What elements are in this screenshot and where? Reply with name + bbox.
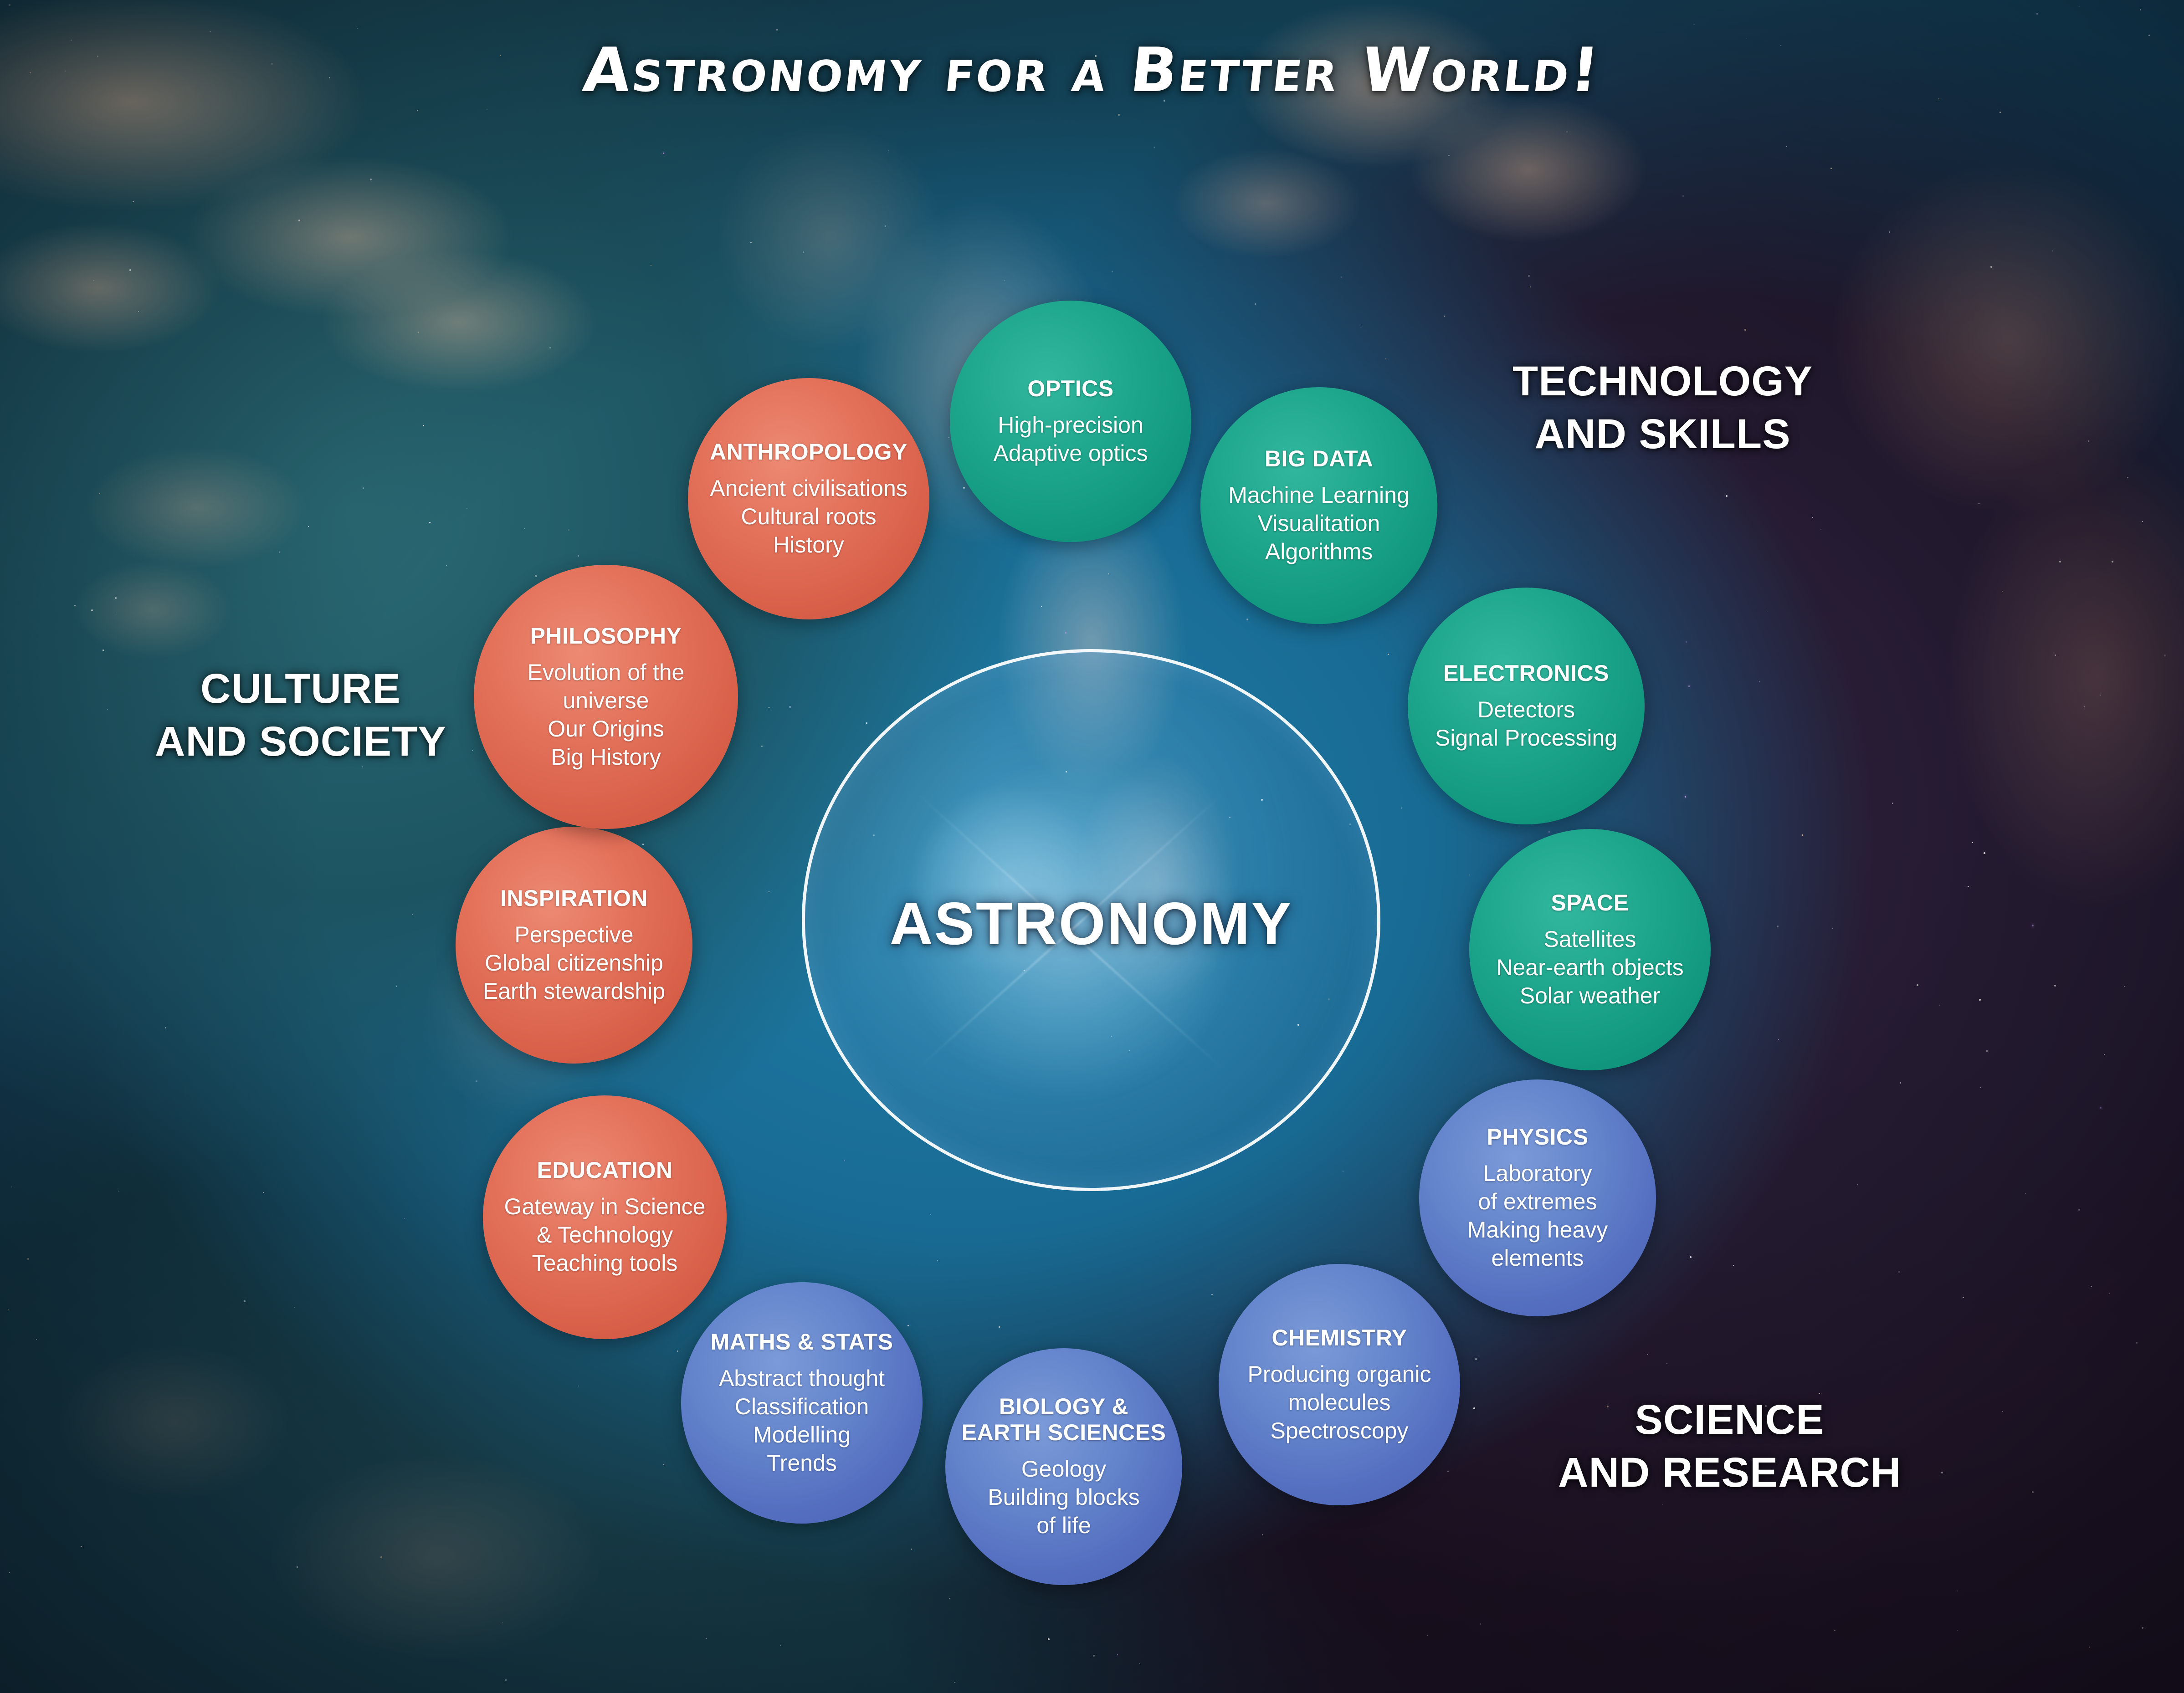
bubble-detail-line-1: Perspective bbox=[483, 921, 665, 949]
bubble-detail-line-1: Detectors bbox=[1435, 696, 1617, 724]
section-label-culture-and-society: CULTURE AND SOCIETY bbox=[155, 663, 446, 768]
bubble-detail-line-2: Building blocks bbox=[988, 1483, 1140, 1511]
astronomy-center-circle: ASTRONOMY bbox=[802, 649, 1380, 1191]
section-label-technology-and-skills: TECHNOLOGY AND SKILLS bbox=[1512, 355, 1813, 461]
bubble-electronics-title: ELECTRONICS bbox=[1443, 660, 1609, 686]
bubble-optics-lines: High-precisionAdaptive optics bbox=[993, 411, 1148, 467]
bubble-philosophy-title: PHILOSOPHY bbox=[530, 623, 682, 649]
bubble-anthropology[interactable]: ANTHROPOLOGY Ancient civilisationsCultur… bbox=[688, 378, 929, 619]
bubble-biology-earth-sciences[interactable]: BIOLOGY & EARTH SCIENCES GeologyBuilding… bbox=[945, 1348, 1182, 1585]
bubble-education[interactable]: EDUCATION Gateway in Science& Technology… bbox=[483, 1095, 727, 1339]
bubble-education-title: EDUCATION bbox=[537, 1157, 672, 1183]
bubble-electronics-lines: DetectorsSignal Processing bbox=[1435, 696, 1617, 752]
bubble-detail-line-2: Adaptive optics bbox=[993, 439, 1148, 467]
bubble-maths-lines: Abstract thoughtClassificationModellingT… bbox=[719, 1364, 885, 1477]
bubble-anthropology-title: ANTHROPOLOGY bbox=[710, 439, 907, 465]
section-label-science-and-research: SCIENCE AND RESEARCH bbox=[1558, 1394, 1901, 1499]
bubble-chemistry-lines: Producing organicmoleculesSpectroscopy bbox=[1247, 1360, 1431, 1445]
bubble-physics-title: PHYSICS bbox=[1487, 1124, 1588, 1150]
bubble-biology-title-line-2: EARTH SCIENCES bbox=[962, 1420, 1166, 1446]
bubble-detail-line-3: History bbox=[710, 531, 907, 559]
bubble-detail-line-3: Making heavy bbox=[1467, 1216, 1608, 1244]
bubble-detail-line-2: molecules bbox=[1247, 1388, 1431, 1417]
bubble-physics-lines: Laboratoryof extremesMaking heavyelement… bbox=[1467, 1159, 1608, 1272]
bubble-maths-stats[interactable]: MATHS & STATS Abstract thoughtClassifica… bbox=[681, 1282, 923, 1524]
bubble-detail-line-3: of life bbox=[988, 1511, 1140, 1540]
astronomy-center-label: ASTRONOMY bbox=[890, 889, 1293, 958]
bubble-big-data-lines: Machine LearningVisualitationAlgorithms bbox=[1228, 481, 1410, 566]
bubble-detail-line-4: Trends bbox=[719, 1449, 885, 1477]
bubble-anthropology-lines: Ancient civilisationsCultural rootsHisto… bbox=[710, 474, 907, 559]
bubble-detail-line-2: Global citizenship bbox=[483, 949, 665, 977]
infographic-canvas: Astronomy for a Better World! TECHNOLOGY… bbox=[0, 0, 2184, 1693]
bubble-inspiration-title: INSPIRATION bbox=[500, 885, 648, 911]
bubble-detail-line-2: Signal Processing bbox=[1435, 724, 1617, 752]
bubble-detail-line-2: Classification bbox=[719, 1392, 885, 1421]
bubble-detail-line-1: High-precision bbox=[993, 411, 1148, 439]
bubble-detail-line-2: Cultural roots bbox=[710, 502, 907, 531]
bubble-philosophy[interactable]: PHILOSOPHY Evolution of theuniverseOur O… bbox=[474, 565, 738, 829]
bubble-detail-line-1: Abstract thought bbox=[719, 1364, 885, 1392]
bubble-detail-line-3: Spectroscopy bbox=[1247, 1417, 1431, 1445]
bubble-space[interactable]: SPACE SatellitesNear-earth objectsSolar … bbox=[1469, 829, 1711, 1070]
section-label-technology-line-1: TECHNOLOGY bbox=[1512, 355, 1813, 408]
bubble-detail-line-3: Teaching tools bbox=[504, 1249, 706, 1277]
bubble-electronics[interactable]: ELECTRONICS DetectorsSignal Processing bbox=[1408, 588, 1645, 824]
bubble-inspiration-lines: PerspectiveGlobal citizenshipEarth stewa… bbox=[483, 921, 665, 1005]
bubble-detail-line-1: Geology bbox=[988, 1455, 1140, 1483]
bubble-detail-line-1: Ancient civilisations bbox=[710, 474, 907, 502]
bubble-philosophy-lines: Evolution of theuniverseOur OriginsBig H… bbox=[528, 658, 685, 771]
bubble-detail-line-1: Producing organic bbox=[1247, 1360, 1431, 1388]
bubble-biology-title-line-1: BIOLOGY & bbox=[962, 1394, 1166, 1420]
bubble-detail-line-1: Evolution of the bbox=[528, 658, 685, 686]
bubble-biology-title: BIOLOGY & EARTH SCIENCES bbox=[962, 1394, 1166, 1446]
bubble-optics-title: OPTICS bbox=[1027, 376, 1113, 402]
bubble-detail-line-3: Earth stewardship bbox=[483, 977, 665, 1005]
bubble-detail-line-1: Laboratory bbox=[1467, 1159, 1608, 1187]
section-label-culture-line-1: CULTURE bbox=[155, 663, 446, 716]
bubble-detail-line-3: Our Origins bbox=[528, 715, 685, 743]
bubble-detail-line-3: Solar weather bbox=[1496, 982, 1683, 1010]
bubble-physics[interactable]: PHYSICS Laboratoryof extremesMaking heav… bbox=[1419, 1079, 1656, 1316]
bubble-detail-line-2: of extremes bbox=[1467, 1187, 1608, 1216]
bubble-maths-title: MATHS & STATS bbox=[711, 1329, 893, 1355]
page-title: Astronomy for a Better World! bbox=[0, 35, 2184, 106]
section-label-culture-line-2: AND SOCIETY bbox=[155, 716, 446, 768]
bubble-detail-line-4: Big History bbox=[528, 743, 685, 771]
bubble-detail-line-3: Modelling bbox=[719, 1421, 885, 1449]
bubble-inspiration[interactable]: INSPIRATION PerspectiveGlobal citizenshi… bbox=[456, 827, 692, 1064]
bubble-detail-line-3: Algorithms bbox=[1228, 537, 1410, 566]
bubble-optics[interactable]: OPTICS High-precisionAdaptive optics bbox=[950, 301, 1191, 542]
bubble-detail-line-2: & Technology bbox=[504, 1221, 706, 1249]
bubble-big-data[interactable]: BIG DATA Machine LearningVisualitationAl… bbox=[1200, 387, 1437, 624]
bubble-biology-lines: GeologyBuilding blocksof life bbox=[988, 1455, 1140, 1540]
bubble-detail-line-2: Visualitation bbox=[1228, 509, 1410, 537]
section-label-science-line-1: SCIENCE bbox=[1558, 1394, 1901, 1447]
bubble-big-data-title: BIG DATA bbox=[1265, 446, 1373, 472]
bubble-space-lines: SatellitesNear-earth objectsSolar weathe… bbox=[1496, 925, 1683, 1010]
section-label-technology-line-2: AND SKILLS bbox=[1512, 408, 1813, 461]
bubble-detail-line-1: Machine Learning bbox=[1228, 481, 1410, 509]
bubble-detail-line-1: Gateway in Science bbox=[504, 1192, 706, 1221]
section-label-science-line-2: AND RESEARCH bbox=[1558, 1447, 1901, 1499]
bubble-space-title: SPACE bbox=[1551, 890, 1629, 916]
bubble-education-lines: Gateway in Science& TechnologyTeaching t… bbox=[504, 1192, 706, 1277]
bubble-detail-line-1: Satellites bbox=[1496, 925, 1683, 953]
bubble-detail-line-2: universe bbox=[528, 686, 685, 715]
bubble-detail-line-2: Near-earth objects bbox=[1496, 953, 1683, 982]
bubble-chemistry-title: CHEMISTRY bbox=[1271, 1325, 1407, 1351]
bubble-detail-line-4: elements bbox=[1467, 1244, 1608, 1272]
bubble-chemistry[interactable]: CHEMISTRY Producing organicmoleculesSpec… bbox=[1219, 1264, 1460, 1505]
